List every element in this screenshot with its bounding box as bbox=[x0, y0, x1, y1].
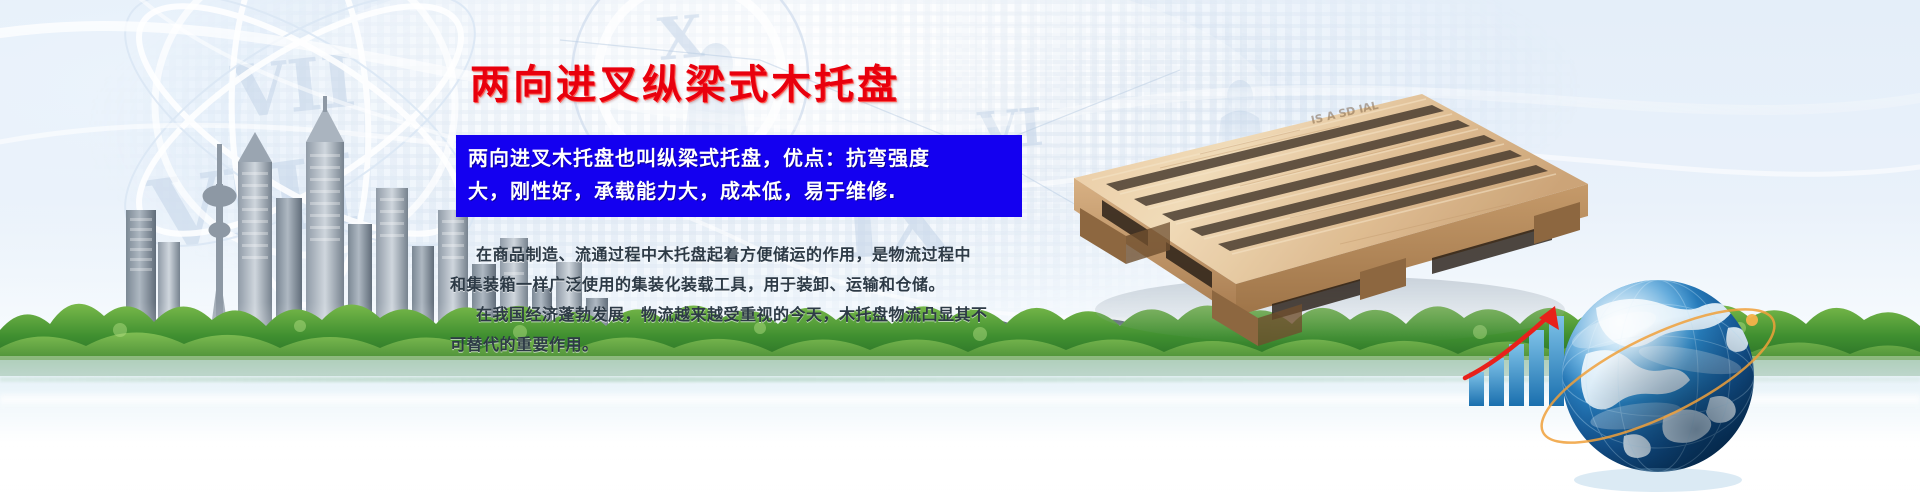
paragraph-line-3: 在我国经济蓬勃发展，物流越来越受重视的今天，木托盘物流凸显其不 bbox=[450, 300, 1050, 330]
paragraph-line-1: 在商品制造、流通过程中木托盘起着方便储运的作用，是物流过程中 bbox=[450, 240, 1050, 270]
description-paragraph: 在商品制造、流通过程中木托盘起着方便储运的作用，是物流过程中 和集装箱一样广泛使… bbox=[450, 240, 1050, 360]
paragraph-line-2: 和集装箱一样广泛使用的集装化装载工具，用于装卸、运输和仓储。 bbox=[450, 270, 1050, 300]
paragraph-line-4: 可替代的重要作用。 bbox=[450, 330, 1050, 360]
promo-banner: VIII VII IX X VI bbox=[0, 0, 1920, 500]
blue-earth-globe bbox=[1540, 268, 1800, 493]
highlight-line-1: 两向进叉木托盘也叫纵梁式托盘，优点：抗弯强度 bbox=[468, 142, 1012, 175]
highlight-line-2: 大，刚性好，承载能力大，成本低，易于维修. bbox=[468, 175, 1012, 208]
highlight-callout-box: 两向进叉木托盘也叫纵梁式托盘，优点：抗弯强度 大，刚性好，承载能力大，成本低，易… bbox=[456, 135, 1022, 217]
banner-title: 两向进叉纵梁式木托盘 bbox=[470, 52, 900, 110]
